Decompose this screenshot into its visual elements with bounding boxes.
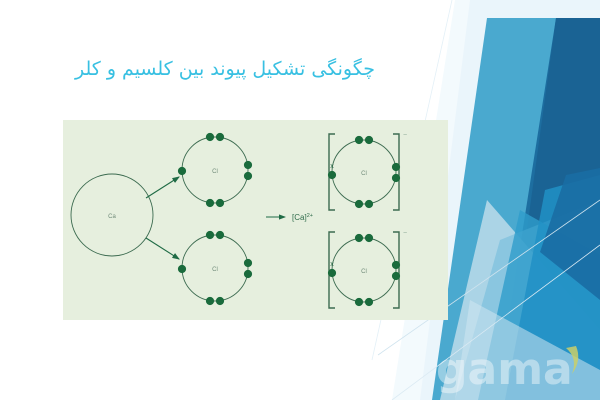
ca-atom-label: Ca [108, 214, 116, 220]
cl-anion-bottom-charge: − [403, 230, 407, 237]
deco-wedge-light-4 [505, 175, 600, 400]
transferred-electron-mark: x [330, 163, 334, 170]
cl-anion-bottom-label: Cl [361, 269, 367, 275]
electron-dot [216, 297, 224, 305]
deco-wedge-pale-overlay [455, 300, 600, 400]
electron-dot [216, 231, 224, 239]
electron-dot [365, 200, 373, 208]
cl-atom-bottom: Cl [178, 231, 252, 305]
electron-dot [206, 231, 214, 239]
ionic-bond-diagram: Ca Cl [63, 120, 448, 320]
electron-dot [216, 133, 224, 141]
deco-wedge-light-2 [455, 200, 600, 400]
ca-cation-label: Ca [294, 213, 305, 222]
chemistry-diagram-panel: Ca Cl [63, 120, 448, 320]
electron-dot [392, 261, 400, 269]
electron-dot [365, 298, 373, 306]
electron-dot [244, 270, 252, 278]
electron-dot [178, 265, 186, 273]
reaction-product-cation: [Ca]2+ [266, 213, 313, 222]
cl-atom-top-label: Cl [212, 169, 218, 175]
ca-cation-formula: [Ca]2+ [292, 213, 313, 222]
electron-dot [355, 200, 363, 208]
watermark-logo: gama [432, 344, 600, 396]
electron-dot [392, 174, 400, 182]
transferred-electron-mark: x [330, 261, 334, 268]
electron-dot [178, 167, 186, 175]
cl-atom-bottom-label: Cl [212, 267, 218, 273]
cl-anion-bottom: − Cl x [328, 230, 407, 308]
ca-atom: Ca [71, 174, 153, 256]
electron-dot [244, 172, 252, 180]
electron-dot [216, 199, 224, 207]
electron-dot [365, 136, 373, 144]
electron-dot [392, 163, 400, 171]
page-title: چگونگی تشکیل پیوند بین کلسیم و کلر [0, 58, 600, 80]
cl-atom-top: Cl [178, 133, 252, 207]
electron-dot [328, 171, 336, 179]
deco-wedge-dark-2 [540, 168, 600, 300]
electron-dot [244, 161, 252, 169]
presentation-slide: چگونگی تشکیل پیوند بین کلسیم و کلر Ca Cl [0, 0, 600, 400]
cl-anion-top-charge: − [403, 132, 407, 139]
cl-anion-top-label: Cl [361, 171, 367, 177]
electron-dot [355, 298, 363, 306]
electron-dot [206, 133, 214, 141]
watermark-text: gama [436, 344, 573, 395]
deco-wedge-light-3 [478, 210, 600, 400]
electron-dot [355, 136, 363, 144]
electron-dot [365, 234, 373, 242]
ca-cation-charge: 2+ [307, 213, 313, 219]
electron-dot [392, 272, 400, 280]
watermark-accent-swoosh [566, 346, 578, 374]
cl-anion-top: − Cl x [328, 132, 407, 210]
electron-dot [206, 199, 214, 207]
electron-dot [328, 269, 336, 277]
electron-dot [355, 234, 363, 242]
electron-transfer-arrow-bottom [146, 238, 179, 259]
deco-wedge-light-1 [440, 200, 600, 400]
electron-transfer-arrow-top [146, 177, 179, 198]
electron-dot [206, 297, 214, 305]
electron-dot [244, 259, 252, 267]
